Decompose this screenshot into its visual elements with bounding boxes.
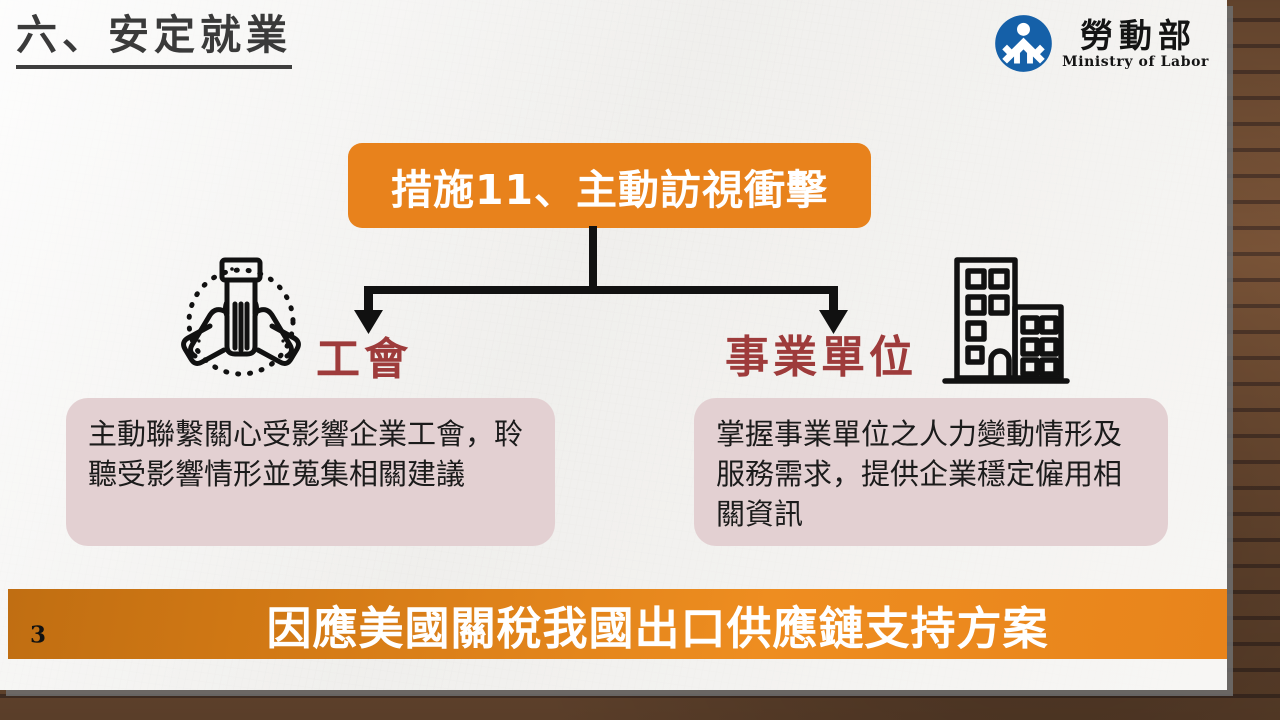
ministry-logo: 勞動部 Ministry of Labor [994,14,1209,73]
logo-name-zh: 勞動部 [1074,19,1197,52]
description-card-enterprise: 掌握事業單位之人力變動情形及服務需求，提供企業穩定僱用相關資訊 [694,398,1168,546]
description-card-union: 主動聯繫關心受影響企業工會，聆聽受影響情形並蒐集相關建議 [66,398,555,546]
branch-union-header: 工會 [170,252,412,390]
brick-wall-backdrop: 六、安定就業 勞動部 Ministry of Labor 措施11、主動訪視衝擊 [0,0,1280,720]
page-title: 六、安定就業 [16,12,292,69]
ministry-of-labor-emblem-icon [994,14,1053,73]
office-buildings-icon [939,252,1073,388]
logo-name-en: Ministry of Labor [1062,55,1209,69]
presentation-slide: 六、安定就業 勞動部 Ministry of Labor 措施11、主動訪視衝擊 [0,0,1227,690]
branch-label-enterprise: 事業單位 [725,336,917,388]
page-number: 3 [30,622,46,649]
teamwork-hands-icon [170,252,312,390]
branch-enterprise-header: 事業單位 [725,252,1073,388]
measure-header-box: 措施11、主動訪視衝擊 [348,143,871,228]
footer-banner-title: 因應美國關稅我國出口供應鏈支持方案 [8,592,1227,657]
branch-label-union: 工會 [316,338,412,390]
footer-banner: 3 因應美國關稅我國出口供應鏈支持方案 [8,589,1227,659]
logo-text-block: 勞動部 Ministry of Labor [1062,19,1209,69]
measure-label: 措施11、主動訪視衝擊 [391,156,828,216]
